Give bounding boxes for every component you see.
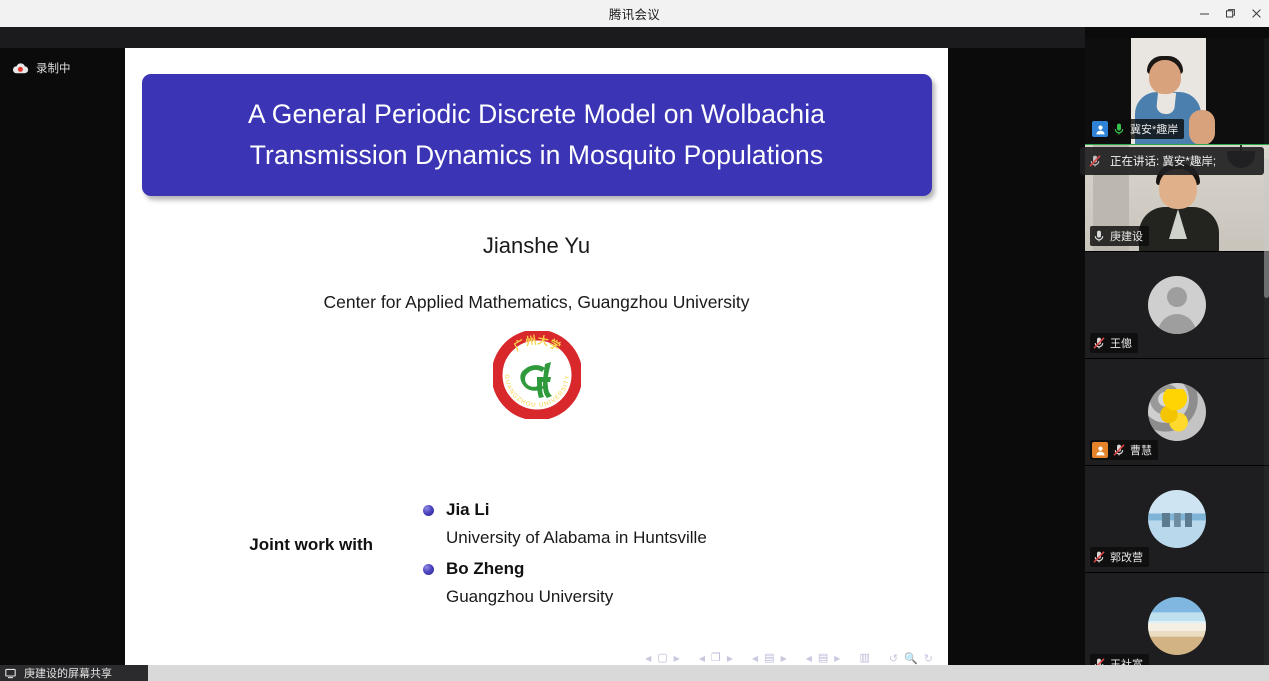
slide-affiliation: Center for Applied Mathematics, Guangzho… (125, 292, 948, 313)
joint-work-label: Joint work with (125, 535, 373, 555)
tencent-meeting-window: 腾讯会议 (0, 0, 1269, 681)
participant-tile[interactable]: 王社宽 (1085, 573, 1269, 680)
participant-tile[interactable]: 曹慧 (1085, 359, 1269, 466)
guangzhou-university-logo: 广州大学 GUANGZHOU UNIVERSITY (493, 331, 581, 419)
subsection-nav-icon[interactable]: ▤ (764, 653, 774, 664)
cohost-badge-icon (1092, 442, 1108, 458)
minimize-icon[interactable] (1191, 0, 1217, 27)
scrollbar-thumb[interactable] (1264, 158, 1269, 298)
forward-nav-icon[interactable]: ↻ (924, 652, 933, 665)
section-prev-icon[interactable]: ◀ (806, 655, 812, 663)
participant-rail-scrollbar[interactable] (1264, 38, 1269, 681)
recording-label: 录制中 (36, 60, 71, 76)
participant-name: 王傯 (1110, 335, 1132, 351)
slide-author: Jianshe Yu (125, 233, 948, 259)
participant-tile[interactable]: 冀安*趣岸 (1085, 38, 1269, 145)
participant-name-bar: 曹慧 (1090, 440, 1158, 460)
mic-muted-icon (1092, 550, 1106, 564)
mic-muted-icon (1092, 229, 1106, 243)
mic-on-icon (1112, 122, 1126, 136)
close-icon[interactable] (1243, 0, 1269, 27)
frame-prev-icon[interactable]: ◀ (699, 655, 705, 663)
collaborator-item: Bo Zheng Guangzhou University (423, 555, 707, 611)
slide-title-box: A General Periodic Discrete Model on Wol… (142, 74, 932, 196)
collaborator-list: Jia Li University of Alabama in Huntsvil… (423, 496, 707, 614)
active-speaker-toast: 正在讲话: 冀安*趣岸; (1080, 147, 1264, 175)
collaborator-name: Bo Zheng (446, 555, 524, 583)
cloud-recording-icon (12, 62, 29, 75)
default-person-avatar (1148, 276, 1206, 334)
section-next-icon[interactable]: ▶ (834, 655, 840, 663)
search-nav-icon[interactable]: 🔍 (904, 652, 918, 665)
window-controls (1191, 0, 1269, 27)
participant-name: 曹慧 (1130, 442, 1152, 458)
joint-work-section: Joint work with Jia Li University of Ala… (125, 496, 948, 614)
subsection-prev-icon[interactable]: ◀ (752, 655, 758, 663)
participant-name-bar: 庚建设 (1090, 226, 1149, 246)
collaborator-name-row: Bo Zheng (423, 555, 707, 583)
window-titlebar: 腾讯会议 (0, 0, 1269, 27)
participant-name-bar: 郭改营 (1090, 547, 1149, 567)
shared-screen-slide[interactable]: A General Periodic Discrete Model on Wol… (125, 48, 948, 681)
section-nav-icon[interactable]: ▤ (818, 653, 828, 664)
beach-photo-avatar (1148, 597, 1206, 655)
presentation-nav-icon[interactable]: ▥ (859, 653, 869, 664)
back-nav-icon[interactable]: ↺ (889, 652, 898, 665)
frame-nav-icon[interactable]: ❐ (711, 653, 721, 664)
slide-prev-icon[interactable]: ◀ (645, 655, 651, 663)
window-title: 腾讯会议 (609, 4, 660, 23)
participant-name: 郭改营 (1110, 549, 1143, 565)
slide-next-icon[interactable]: ▶ (674, 655, 680, 663)
share-top-strip (0, 27, 1085, 48)
collaborator-item: Jia Li University of Alabama in Huntsvil… (423, 496, 707, 552)
participant-tile[interactable]: 郭改营 (1085, 466, 1269, 573)
collaborator-institution: Guangzhou University (446, 583, 707, 611)
frame-next-icon[interactable]: ▶ (727, 655, 733, 663)
mic-muted-icon (1112, 443, 1126, 457)
recording-indicator[interactable]: 录制中 (12, 60, 71, 76)
slide-title-line-2: Transmission Dynamics in Mosquito Popula… (250, 135, 824, 176)
beamer-navigation-bar[interactable]: ◀ ▢ ▶ ◀ ❐ ▶ ◀ ▤ ▶ ◀ ▤ ▶ ▥ (645, 652, 933, 665)
participant-rail[interactable]: 冀安*趣岸 (1085, 38, 1269, 681)
screen-share-bar[interactable]: 庚建设的屏幕共享 (0, 665, 148, 681)
meeting-content-area: 录制中 A General Periodic Discrete Model on… (0, 27, 1269, 681)
slide-title-line-1: A General Periodic Discrete Model on Wol… (248, 94, 825, 135)
participant-name: 冀安*趣岸 (1130, 121, 1178, 137)
participant-name: 庚建设 (1110, 228, 1143, 244)
participant-name-bar: 冀安*趣岸 (1090, 119, 1184, 139)
participant-tile[interactable]: 王傯 (1085, 252, 1269, 359)
slide-nav-icon[interactable]: ▢ (657, 653, 667, 664)
mic-muted-icon (1088, 154, 1102, 168)
screen-share-label: 庚建设的屏幕共享 (24, 665, 112, 681)
screen-share-icon (5, 666, 19, 680)
active-speaker-text: 正在讲话: 冀安*趣岸; (1110, 153, 1216, 169)
flower-photo-avatar (1148, 383, 1206, 441)
bullet-icon (423, 505, 434, 516)
collaborator-name: Jia Li (446, 496, 489, 524)
subsection-next-icon[interactable]: ▶ (781, 655, 787, 663)
lake-photo-avatar (1148, 490, 1206, 548)
collaborator-name-row: Jia Li (423, 496, 707, 524)
host-badge-icon (1092, 121, 1108, 137)
participant-name-bar: 王傯 (1090, 333, 1138, 353)
mic-muted-icon (1092, 336, 1106, 350)
maximize-icon[interactable] (1217, 0, 1243, 27)
bullet-icon (423, 564, 434, 575)
share-bar-background (148, 665, 1269, 681)
collaborator-institution: University of Alabama in Huntsville (446, 524, 707, 552)
